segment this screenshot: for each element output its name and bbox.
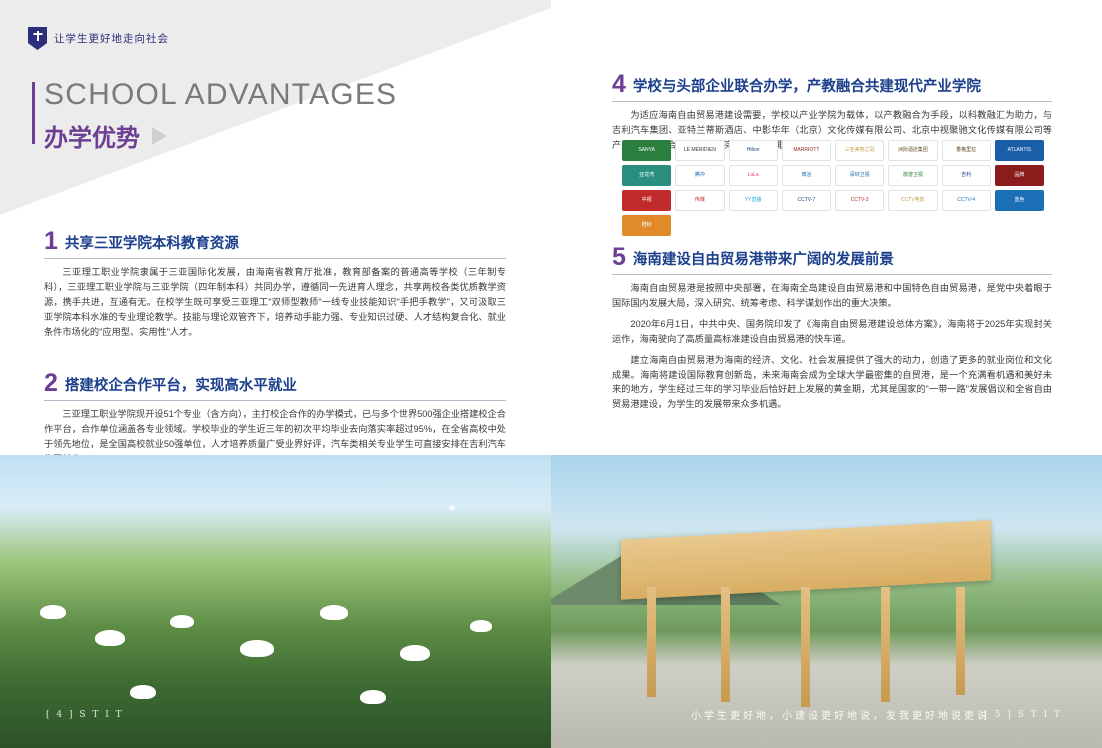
bird-shape <box>130 685 156 699</box>
partner-logo-red-brand: 品牌 <box>995 165 1044 186</box>
partner-logo-hotel-group: 三亚美丽之冠 <box>835 140 884 161</box>
section-5-paragraph-1: 海南自由贸易港是按照中央部署，在海南全岛建设自由贸易港和中国特色自由贸易港，是党… <box>612 281 1052 311</box>
partner-logo-cctv3: CCTV-3 <box>835 190 884 211</box>
partner-logo-grid: SANYALE MÉRIDIENHiltonMARRIOTT三亚美丽之冠洲际酒店… <box>622 140 1044 236</box>
section-1-title: 共享三亚学院本科教育资源 <box>65 237 239 254</box>
partner-logo-cctv4: CCTV-4 <box>942 190 991 211</box>
pavilion-column <box>956 587 965 695</box>
partner-logo-intercontinental: 洲际酒店集团 <box>888 140 937 161</box>
bird-shape <box>470 620 492 632</box>
triangle-right-icon <box>152 127 167 145</box>
photo-birds-wetland: [ 4 ] S T I T <box>0 455 551 748</box>
partner-logo-tengchong: 腾冲 <box>675 165 724 186</box>
bird-shape <box>320 605 348 620</box>
page-number-left: [ 4 ] S T I T <box>46 710 124 720</box>
section-2-rule <box>44 400 506 401</box>
partner-logo-shenzhen-tv: 深圳卫视 <box>835 165 884 186</box>
pavilion-column <box>721 587 730 702</box>
section-5: 5 海南建设自由贸易港带来广阔的发展前景 海南自由贸易港是按照中央部署，在海南全… <box>612 245 1052 412</box>
photo-pavilion: 小学生更好地，小建设更好地说，发我更好地说更说 [ 5 ] S T I T <box>551 455 1102 748</box>
right-page: 4 学校与头部企业联合办学，产教融合共建现代产业学院 为适应海南自由贸易港建设需… <box>551 0 1102 748</box>
section-5-head: 5 海南建设自由贸易港带来广阔的发展前景 <box>612 245 1052 270</box>
partner-logo-china-red: 中视 <box>622 190 671 211</box>
section-4-head: 4 学校与头部企业联合办学，产教融合共建现代产业学院 <box>612 72 1052 97</box>
partner-logo-hilton: Hilton <box>729 140 778 161</box>
partner-logo-travel-tv: 旅游卫视 <box>888 165 937 186</box>
section-5-paragraph-3: 建立海南自由贸易港为海南的经济、文化、社会发展提供了强大的动力，创造了更多的就业… <box>612 353 1052 413</box>
section-2-number: 2 <box>44 371 58 396</box>
title-chinese-row: 办学优势 <box>44 118 397 153</box>
bird-shape <box>40 605 66 619</box>
bird-shape <box>240 640 274 657</box>
bird-shape <box>95 630 125 646</box>
title-chinese: 办学优势 <box>44 118 140 153</box>
section-4-title: 学校与头部企业联合办学，产教融合共建现代产业学院 <box>633 80 981 97</box>
section-1-number: 1 <box>44 229 58 254</box>
partner-logo-meridien: LE MÉRIDIEN <box>675 140 724 161</box>
pavilion-column <box>801 587 810 707</box>
shield-icon <box>28 27 47 50</box>
photo-slogan: 小学生更好地，小建设更好地说，发我更好地说更说 <box>691 707 990 722</box>
partner-logo-cctv7: CCTV-7 <box>782 190 831 211</box>
bird-shape <box>400 645 430 661</box>
partner-logo-yy: YY直播 <box>729 190 778 211</box>
partner-logo-resort: 亚龙湾 <box>622 165 671 186</box>
section-2-head: 2 搭建校企合作平台，实现高水平就业 <box>44 371 506 396</box>
partner-logo-blue-brand: 蓝色 <box>995 190 1044 211</box>
section-1-head: 1 共享三亚学院本科教育资源 <box>44 229 506 254</box>
title-english: SCHOOL ADVANTAGES <box>44 78 397 112</box>
section-5-rule <box>612 274 1052 275</box>
left-page: 让学生更好地走向社会 SCHOOL ADVANTAGES 办学优势 1 共享三亚… <box>0 0 551 748</box>
section-4-number: 4 <box>612 72 626 97</box>
partner-logo-media-blue: 传媒 <box>675 190 724 211</box>
partner-logo-atlantis: ATLANTIS <box>995 140 1044 161</box>
partner-logo-cctv-movie: CCTV电影 <box>888 190 937 211</box>
partner-logo-orange-brand: 橙标 <box>622 215 671 236</box>
partner-logo-沙滩度假酒店: SANYA <box>622 140 671 161</box>
bird-shape <box>170 615 194 628</box>
section-2: 2 搭建校企合作平台，实现高水平就业 三亚理工职业学院现开设51个专业（含方向）… <box>44 371 506 467</box>
section-1: 1 共享三亚学院本科教育资源 三亚理工职业学院隶属于三亚国际化发展，由海南省教育… <box>44 229 506 340</box>
section-4-rule <box>612 101 1052 102</box>
pavilion-column <box>881 587 890 702</box>
brand-logo: 让学生更好地走向社会 <box>28 27 169 50</box>
page-title: SCHOOL ADVANTAGES 办学优势 <box>44 78 397 153</box>
partner-logo-shangri-la: 香格里拉 <box>942 140 991 161</box>
section-5-number: 5 <box>612 245 626 270</box>
brand-tagline: 让学生更好地走向社会 <box>54 31 169 46</box>
section-2-title: 搭建校企合作平台，实现高水平就业 <box>65 379 297 396</box>
section-1-paragraph-1: 三亚理工职业学院隶属于三亚国际化发展，由海南省教育厅批准，教育部备案的普通高等学… <box>44 265 506 340</box>
title-accent-bar <box>32 82 35 144</box>
page-number-right: [ 5 ] S T I T <box>984 710 1062 720</box>
partner-logo-bojin: 博洽 <box>782 165 831 186</box>
pavilion-column <box>647 587 656 697</box>
section-5-title: 海南建设自由贸易港带来广阔的发展前景 <box>633 253 894 270</box>
section-1-rule <box>44 258 506 259</box>
partner-logo-marriott: MARRIOTT <box>782 140 831 161</box>
section-5-paragraph-2: 2020年6月1日，中共中央、国务院印发了《海南自由贸易港建设总体方案》，海南将… <box>612 317 1052 347</box>
partner-logo-geely: 吉利 <box>942 165 991 186</box>
partner-logo-lala: LaLa <box>729 165 778 186</box>
brochure-spread: 让学生更好地走向社会 SCHOOL ADVANTAGES 办学优势 1 共享三亚… <box>0 0 1102 748</box>
bird-shape <box>360 690 386 704</box>
